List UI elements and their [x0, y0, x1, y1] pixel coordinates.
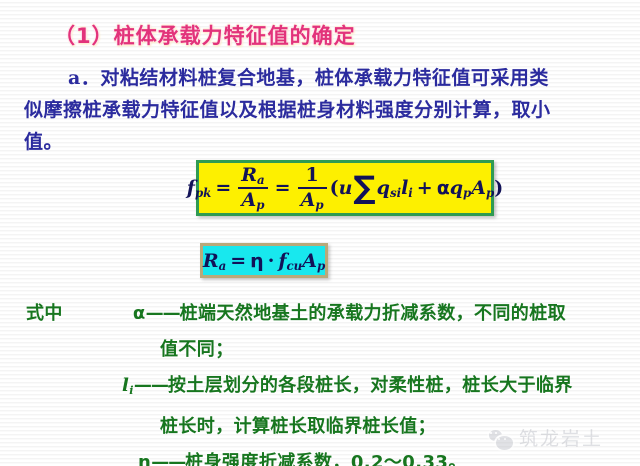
formula-1-equals-1: =: [211, 177, 235, 199]
formula-box-single-pile-capacity: Ra = η · fcu Ap: [200, 243, 328, 278]
definition-text-eta-line-1: 桩身强度折减系数，0.2～0.33。: [185, 452, 467, 466]
body-line-3: 值。: [24, 131, 63, 153]
definition-row-alpha-cont: 值不同；: [26, 332, 626, 368]
summation-icon: ∑: [352, 177, 376, 199]
formula-1-equals-2: =: [271, 177, 295, 199]
definition-row-li-cont: 桩长时，计算桩长取临界桩长值；: [26, 409, 626, 445]
formula-1-fpk: fpk: [187, 177, 212, 199]
formula-2-expression: Ra = η · fcu Ap: [203, 250, 325, 272]
formula-1-paren-close: ): [494, 177, 503, 199]
formula-1-li: li: [401, 177, 413, 199]
definition-symbol-alpha: α: [133, 303, 146, 324]
formula-1-one: 1: [302, 165, 321, 187]
formula-1-Ap-1: Ap: [238, 189, 267, 211]
formula-2-eta: η: [250, 250, 264, 272]
formula-1-alpha: α: [437, 177, 450, 199]
slide-canvas: （1）桩体承载力特征值的确定 a．对粘结材料桩复合地基，桩体承载力特征值可采用类…: [0, 0, 640, 466]
body-line-2: 似摩擦桩承载力特征值以及根据桩身材料强度分别计算，取小: [24, 99, 551, 121]
formula-2-Ap: Ap: [302, 250, 325, 272]
formula-1-qp: qp: [450, 177, 472, 199]
definition-dash: ——: [146, 303, 180, 324]
formula-1-paren-open: (: [330, 177, 339, 199]
definition-text-alpha-line-1: 桩端天然地基土的承载力折减系数，不同的桩取: [180, 303, 566, 324]
list-marker: a．: [68, 67, 100, 89]
formula-2-Ra: Ra: [203, 250, 226, 272]
formula-2-fcu: fcu: [278, 250, 302, 272]
definition-row-li: li——按土层划分的各段桩长，对柔性桩，桩长大于临界: [26, 368, 626, 409]
body-line-1: 对粘结材料桩复合地基，桩体承载力特征值可采用类: [100, 67, 549, 89]
definition-dash: ——: [134, 375, 168, 396]
definition-text-li-line-2: 桩长时，计算桩长取临界桩长值；: [160, 416, 436, 437]
definition-symbol-eta: η: [138, 452, 151, 466]
formula-1-Ap-3: Ap: [471, 177, 494, 199]
formula-1-Ap-2: Ap: [298, 189, 327, 211]
page-title: （1）桩体承载力特征值的确定: [54, 20, 356, 50]
formula-1-qsi: qsi: [377, 177, 401, 199]
definition-dash: ——: [151, 452, 185, 466]
formula-box-pile-bearing-capacity: fpk = Ra Ap = 1 Ap ( u ∑ qsi li + α qp A…: [196, 160, 494, 216]
formula-1-u: u: [339, 177, 353, 199]
definition-symbol-li: li: [122, 375, 134, 396]
formula-1-fraction-Ra-Ap: Ra Ap: [238, 165, 267, 210]
formula-1-plus: +: [413, 177, 437, 199]
formula-1-expression: fpk = Ra Ap = 1 Ap ( u ∑ qsi li + α qp A…: [187, 165, 504, 210]
formula-2-dot: ·: [264, 250, 279, 272]
formula-1-Ra: Ra: [238, 165, 267, 187]
definition-row-alpha: 式中α——桩端天然地基土的承载力折减系数，不同的桩取: [26, 296, 626, 332]
definition-row-eta: η——桩身强度折减系数，0.2～0.33。: [26, 445, 626, 466]
definition-text-alpha-line-2: 值不同；: [160, 339, 234, 360]
formula-1-fraction-1-Ap: 1 Ap: [298, 165, 327, 210]
definition-text-li-line-1: 按土层划分的各段桩长，对柔性桩，桩长大于临界: [168, 375, 573, 396]
symbol-definition-list: 式中α——桩端天然地基土的承载力折减系数，不同的桩取 值不同； li——按土层划…: [26, 296, 626, 466]
body-paragraph: a．对粘结材料桩复合地基，桩体承载力特征值可采用类 似摩擦桩承载力特征值以及根据…: [24, 62, 624, 158]
formula-2-equals: =: [226, 250, 250, 272]
definition-label: 式中: [26, 296, 63, 332]
